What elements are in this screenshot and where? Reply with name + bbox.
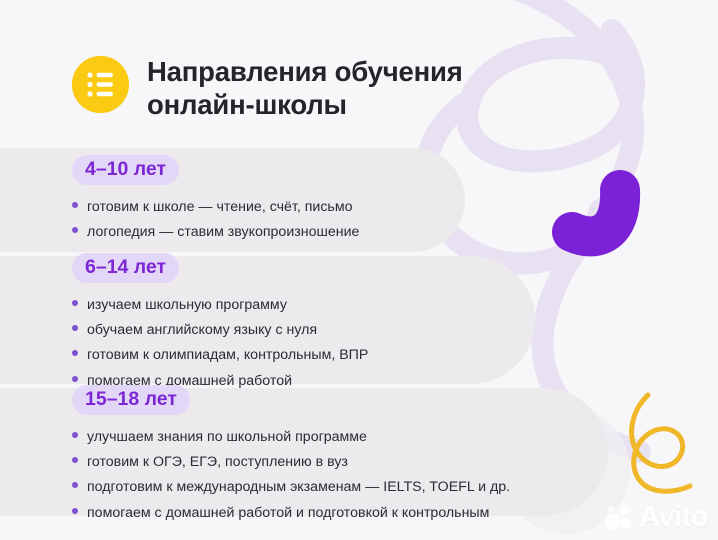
- list-item: логопедия — ставим звукопроизношение: [72, 220, 359, 245]
- list-item-label: помогаем с домашней работой и подготовко…: [87, 506, 489, 520]
- benefit-list-0: готовим к школе — чтение, счёт, письмо л…: [72, 194, 359, 244]
- yellow-squiggle-decoration: [632, 395, 690, 491]
- age-section-0: 4–10 лет готовим к школе — чтение, счёт,…: [72, 155, 359, 245]
- list-item: готовим к ОГЭ, ЕГЭ, поступлению в вуз: [72, 450, 510, 475]
- bullet-icon: [72, 376, 78, 382]
- header: Направления обучения онлайн-школы: [72, 52, 463, 121]
- list-item-label: улучшаем знания по школьной программе: [87, 430, 367, 444]
- list-item-label: обучаем английскому языку с нуля: [87, 323, 317, 337]
- list-item-label: логопедия — ставим звукопроизношение: [87, 225, 359, 239]
- list-item: готовим к школе — чтение, счёт, письмо: [72, 194, 359, 219]
- bullet-icon: [72, 300, 78, 306]
- list-item: изучаем школьную программу: [72, 292, 368, 317]
- list-item-label: готовим к школе — чтение, счёт, письмо: [87, 200, 352, 214]
- bullet-icon: [72, 202, 78, 208]
- list-icon: [72, 56, 129, 113]
- list-item-label: готовим к олимпиадам, контрольным, ВПР: [87, 348, 368, 362]
- purple-hook-decoration: [572, 190, 620, 236]
- age-section-1: 6–14 лет изучаем школьную программу обуч…: [72, 253, 368, 393]
- bullet-icon: [72, 508, 78, 514]
- benefit-list-1: изучаем школьную программу обучаем англи…: [72, 292, 368, 393]
- list-item-label: готовим к ОГЭ, ЕГЭ, поступлению в вуз: [87, 455, 348, 469]
- bullet-icon: [72, 325, 78, 331]
- list-item: подготовим к международным экзаменам — I…: [72, 475, 510, 500]
- age-badge-1: 6–14 лет: [72, 253, 179, 283]
- bullet-icon: [72, 350, 78, 356]
- avito-watermark: Avito: [604, 503, 708, 532]
- age-badge-2: 15–18 лет: [72, 385, 190, 415]
- avito-watermark-text: Avito: [639, 503, 708, 532]
- list-item: улучшаем знания по школьной программе: [72, 424, 510, 449]
- avito-dots-logo: [604, 505, 634, 531]
- bullet-icon: [72, 482, 78, 488]
- bullet-icon: [72, 432, 78, 438]
- list-item: обучаем английскому языку с нуля: [72, 318, 368, 343]
- list-item: помогаем с домашней работой и подготовко…: [72, 500, 510, 525]
- age-section-2: 15–18 лет улучшаем знания по школьной пр…: [72, 385, 510, 525]
- list-item-label: подготовим к международным экзаменам — I…: [87, 480, 510, 494]
- bullet-icon: [72, 227, 78, 233]
- list-item: готовим к олимпиадам, контрольным, ВПР: [72, 343, 368, 368]
- bullet-icon: [72, 457, 78, 463]
- benefit-list-2: улучшаем знания по школьной программе го…: [72, 424, 510, 525]
- list-item-label: изучаем школьную программу: [87, 298, 287, 312]
- age-badge-0: 4–10 лет: [72, 155, 179, 185]
- poster: Направления обучения онлайн-школы 4–10 л…: [0, 0, 718, 540]
- page-title: Направления обучения онлайн-школы: [147, 52, 463, 121]
